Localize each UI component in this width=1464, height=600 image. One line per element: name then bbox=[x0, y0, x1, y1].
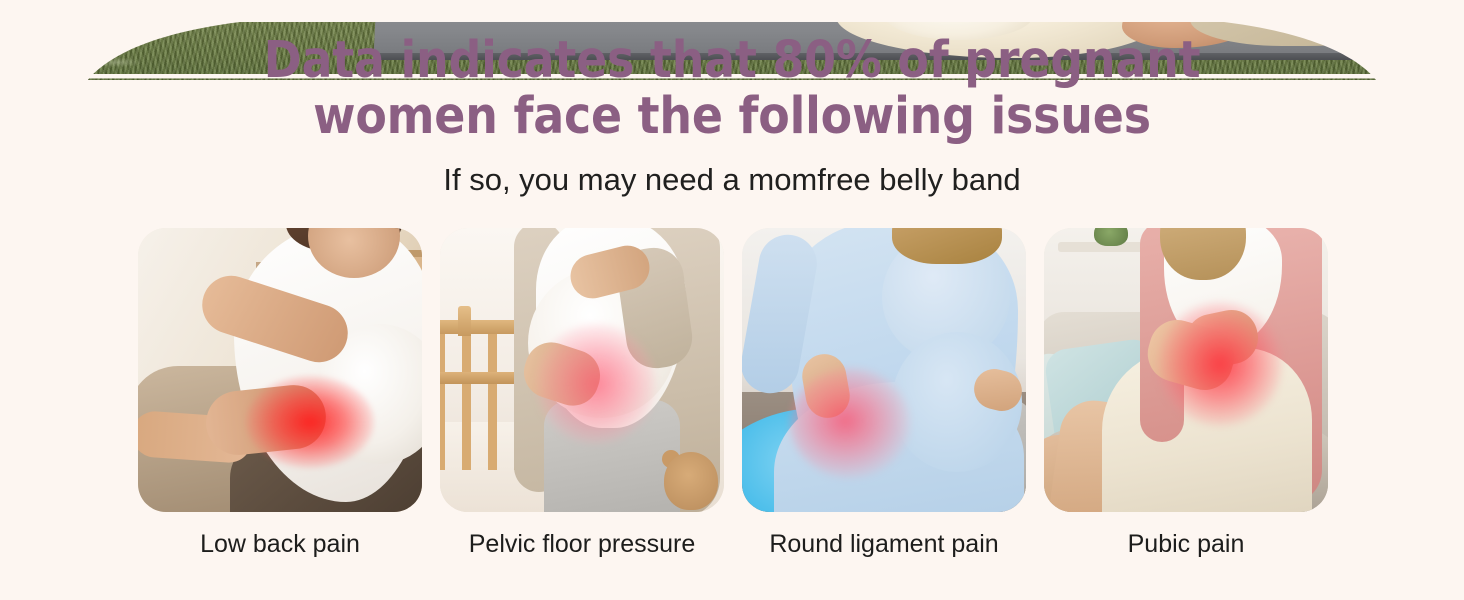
headline: Data indicates that 80% of pregnant wome… bbox=[0, 33, 1464, 145]
subtitle: If so, you may need a momfree belly band bbox=[0, 160, 1464, 200]
caption-pelvic-floor-pressure: Pelvic floor pressure bbox=[440, 528, 724, 560]
pain-point-card-pubic-pain[interactable] bbox=[1044, 228, 1328, 512]
pain-point-card-round-ligament-pain[interactable] bbox=[742, 228, 1026, 512]
pain-point-card-pelvic-floor-pressure[interactable] bbox=[440, 228, 724, 512]
card-photo-round-ligament-pain bbox=[742, 228, 1026, 512]
teddy-bear bbox=[664, 452, 718, 510]
headline-line-2: women face the following issues bbox=[0, 89, 1464, 145]
caption-low-back-pain: Low back pain bbox=[138, 528, 422, 560]
caption-round-ligament-pain: Round ligament pain bbox=[742, 528, 1026, 560]
promo-banner: Data indicates that 80% of pregnant wome… bbox=[0, 0, 1464, 600]
pain-point-card-low-back-pain[interactable] bbox=[138, 228, 422, 512]
pain-point-card-row bbox=[138, 228, 1328, 512]
caption-pubic-pain: Pubic pain bbox=[1044, 528, 1328, 560]
card-photo-pelvic-floor-pressure bbox=[440, 228, 724, 512]
card-photo-low-back-pain bbox=[138, 228, 422, 512]
caption-row: Low back pain Pelvic floor pressure Roun… bbox=[138, 528, 1328, 560]
plant-icon bbox=[1094, 228, 1128, 246]
card-photo-pubic-pain bbox=[1044, 228, 1328, 512]
crib-post bbox=[458, 306, 471, 336]
headline-line-1: Data indicates that 80% of pregnant bbox=[0, 33, 1464, 89]
